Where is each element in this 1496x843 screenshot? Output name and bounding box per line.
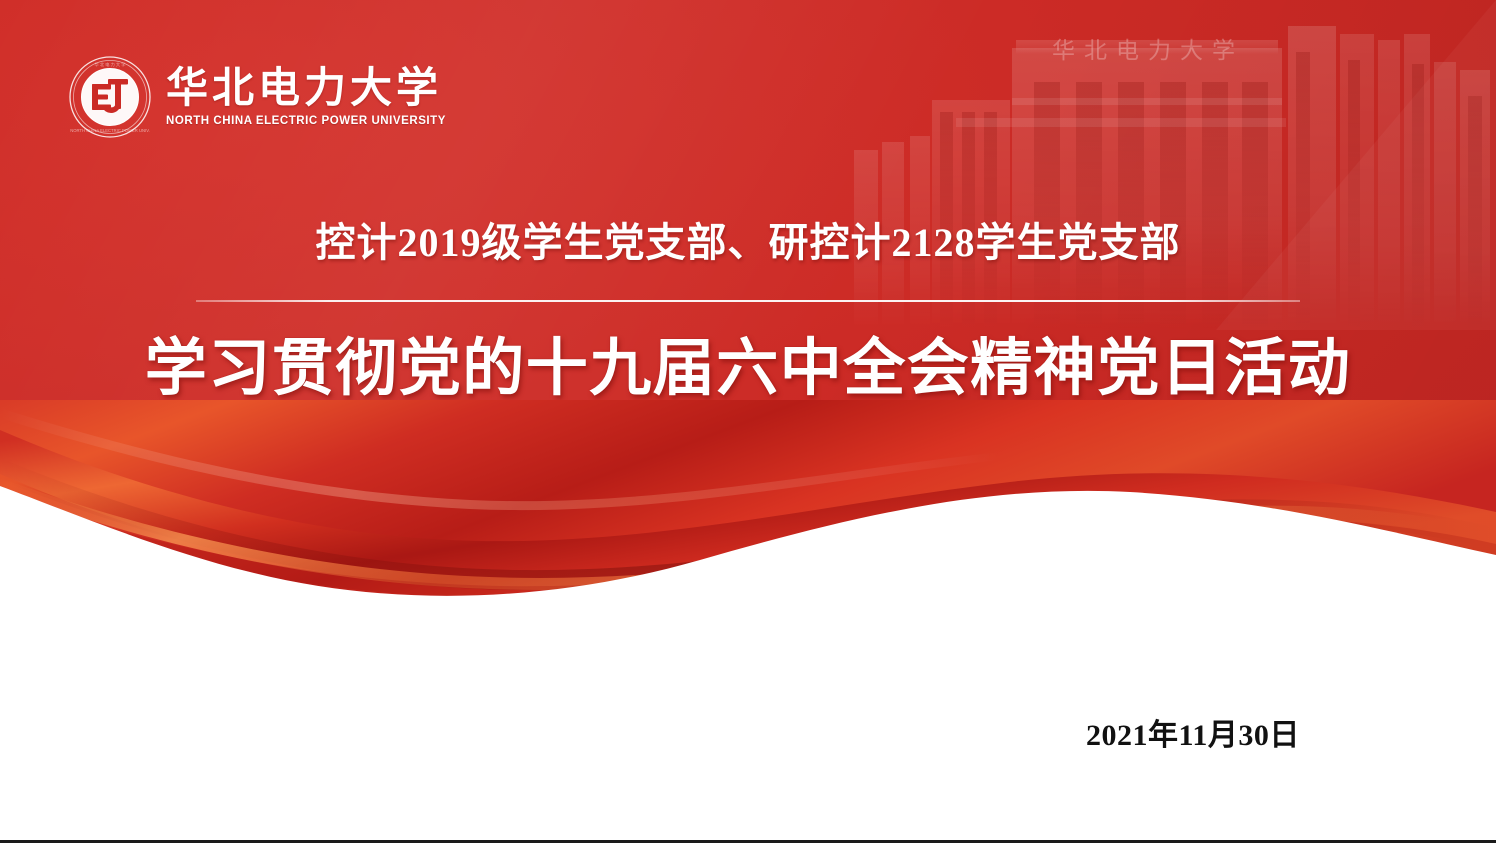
- svg-text:NORTH CHINA ELECTRIC POWER UNI: NORTH CHINA ELECTRIC POWER UNIV.: [70, 128, 150, 133]
- organizing-units-subtitle: 控计2019级学生党支部、研控计2128学生党支部: [0, 210, 1496, 268]
- event-title-line-1: 学习贯彻党的十九届六中全会精神党日活动: [0, 330, 1496, 409]
- event-title-line-2: 暨红色1+1党支部共建启动大会: [0, 409, 1496, 488]
- university-logo: 华 北 电 力 大 学 NORTH CHINA ELECTRIC POWER U…: [68, 55, 446, 139]
- logo-name-cn: 华北电力大学: [166, 67, 446, 111]
- event-date: 2021年11月30日: [1086, 710, 1300, 754]
- banner-slide: 华北电力大学: [0, 0, 1496, 843]
- horizontal-divider-icon: [196, 300, 1300, 302]
- svg-text:华 北 电 力 大 学: 华 北 电 力 大 学: [95, 61, 126, 68]
- ncepu-circular-seal-icon: 华 北 电 力 大 学 NORTH CHINA ELECTRIC POWER U…: [68, 55, 152, 139]
- logo-wordmark: 华北电力大学 NORTH CHINA ELECTRIC POWER UNIVER…: [166, 67, 446, 127]
- logo-name-en: NORTH CHINA ELECTRIC POWER UNIVERSITY: [166, 115, 446, 127]
- event-title: 学习贯彻党的十九届六中全会精神党日活动 暨红色1+1党支部共建启动大会: [0, 330, 1496, 489]
